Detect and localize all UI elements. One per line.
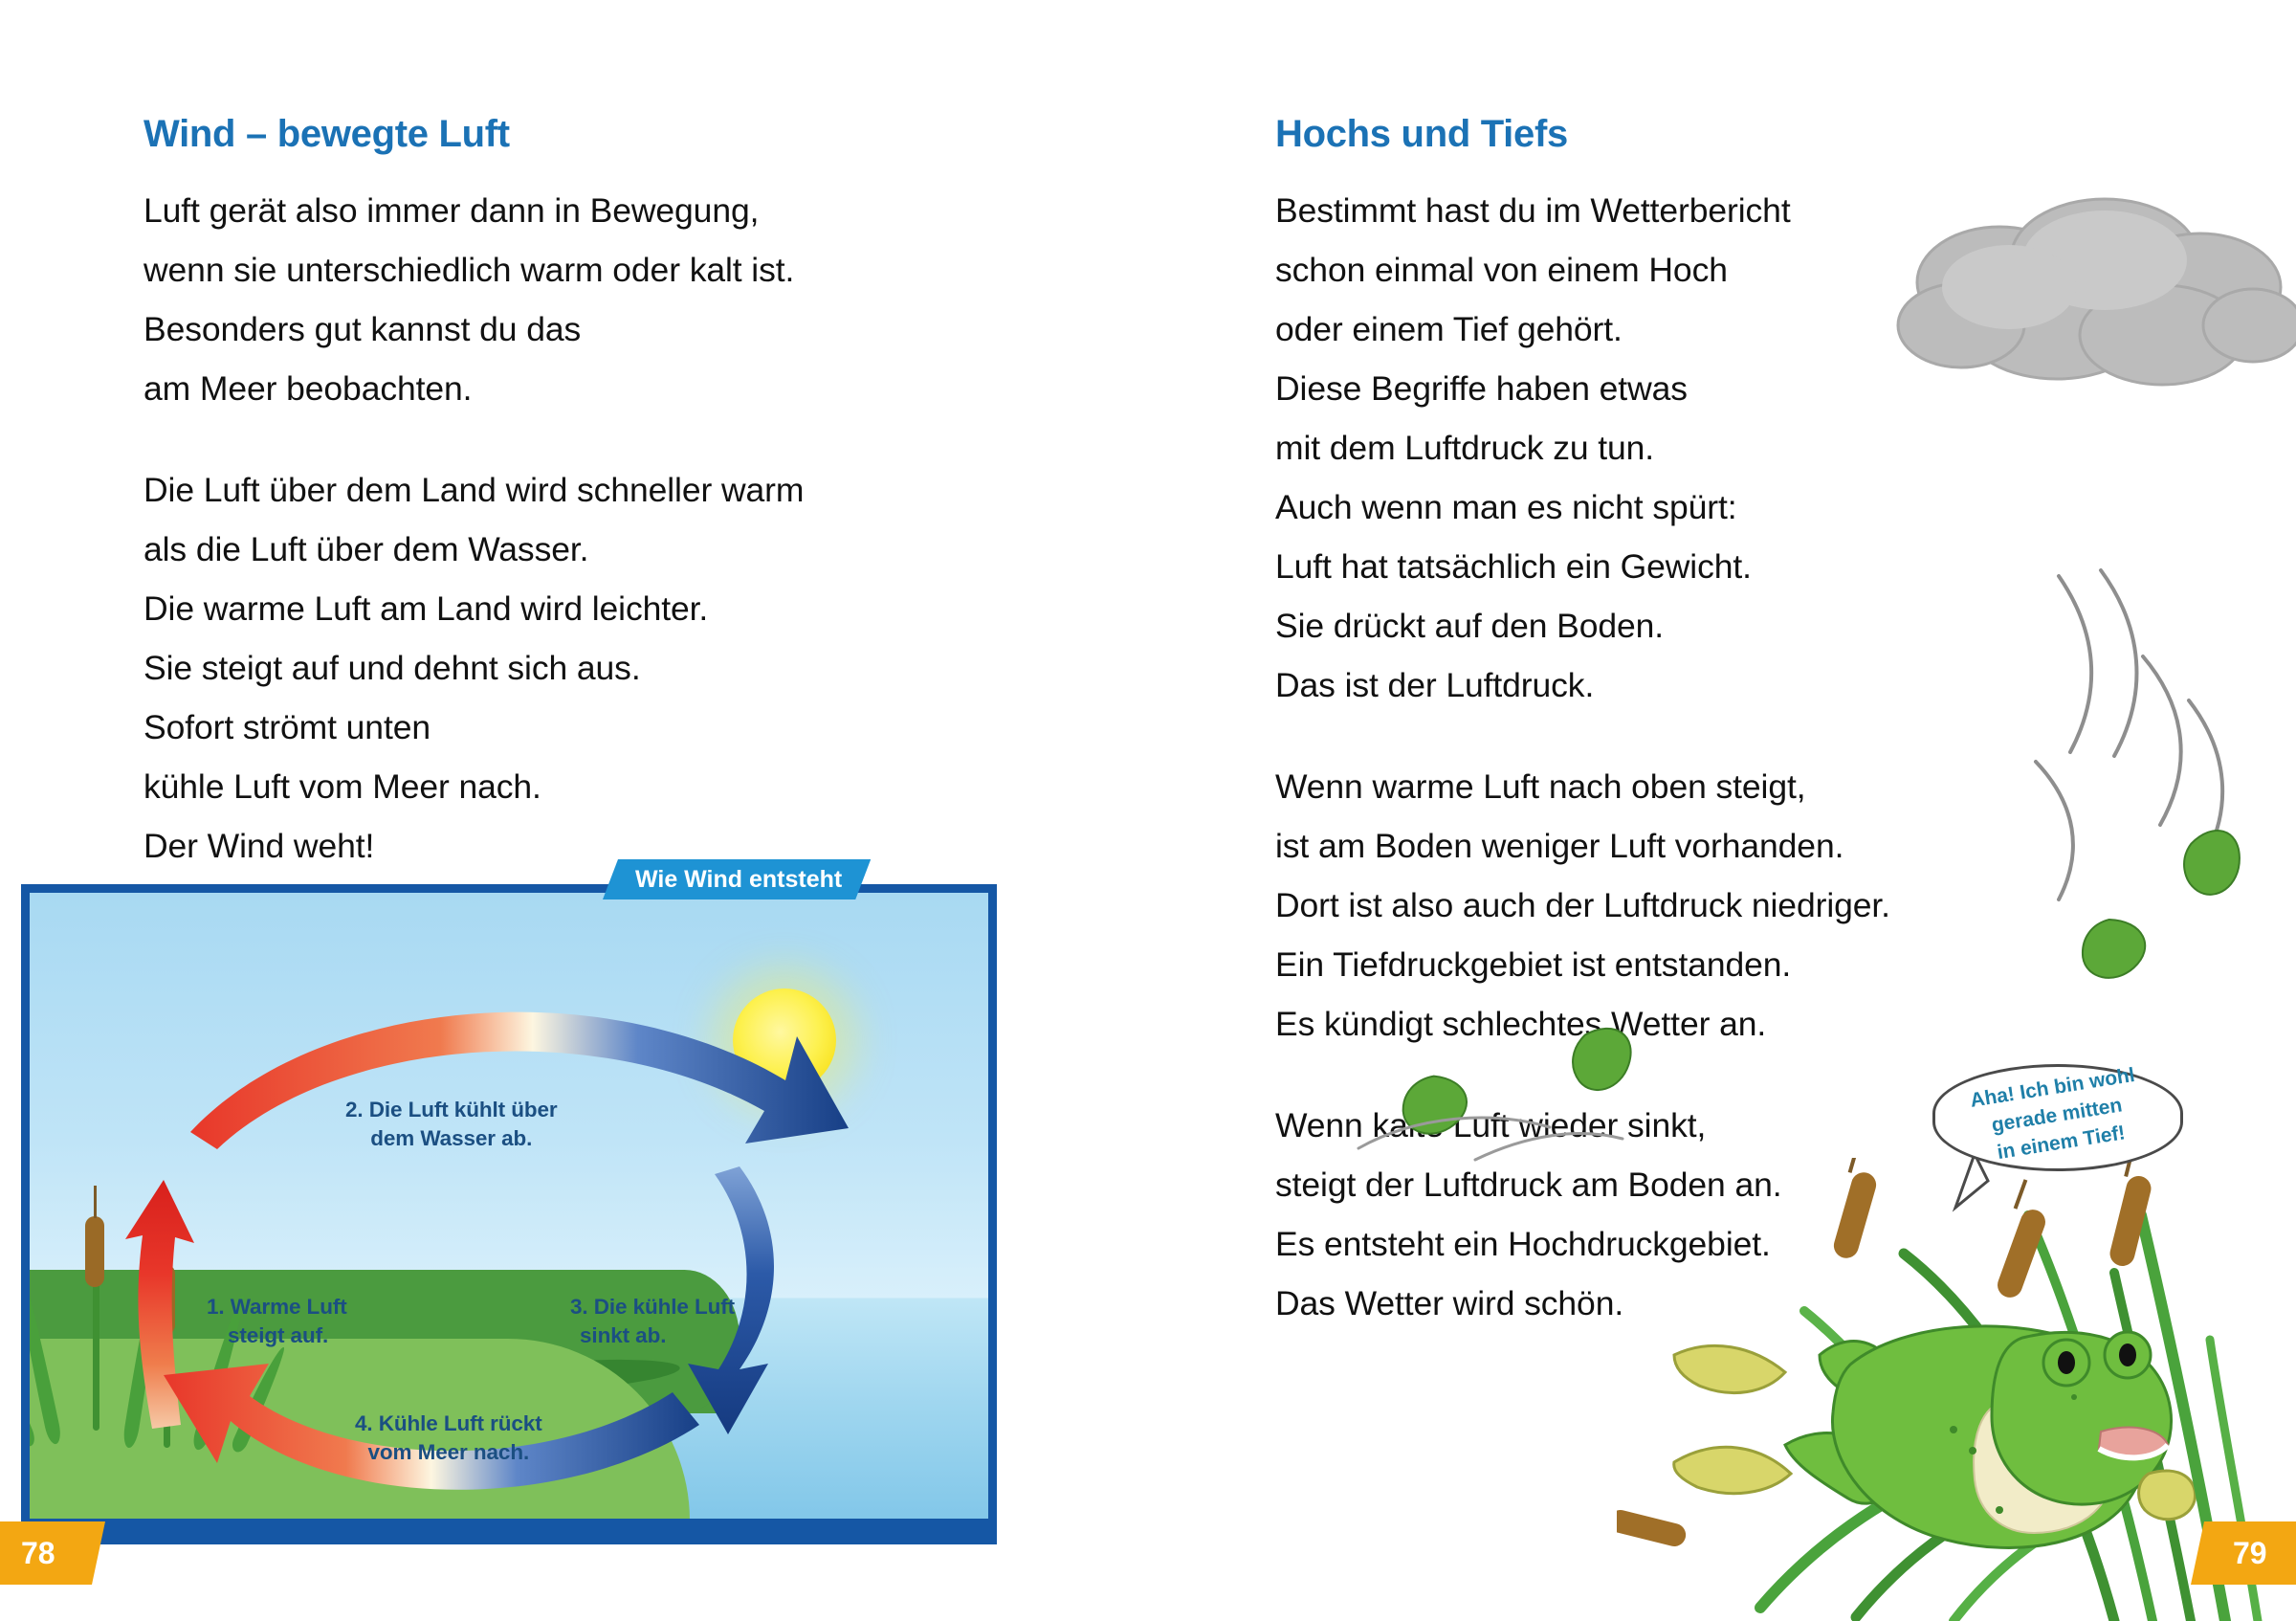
- page-number-left: 78: [0, 1521, 105, 1585]
- paragraph: Die Luft über dem Land wird schneller wa…: [143, 460, 775, 876]
- text-line: Die warme Luft am Land wird leichter.: [143, 579, 775, 638]
- diagram-label-2: 2. Die Luft kühlt über dem Wasser ab.: [345, 1096, 558, 1153]
- diagram-label-line: 3. Die kühle Luft: [570, 1295, 735, 1319]
- text-line: Auch wenn man es nicht spürt:: [1275, 477, 1945, 537]
- text-line: als die Luft über dem Wasser.: [143, 520, 775, 579]
- text-line: Luft hat tatsächlich ein Gewicht.: [1275, 537, 1945, 596]
- diagram-label-line: vom Meer nach.: [355, 1438, 542, 1467]
- text-line: Sofort strömt unten: [143, 698, 775, 757]
- page-title-left: Wind – bewegte Luft: [143, 113, 775, 156]
- diagram-label-line: sinkt ab.: [570, 1321, 735, 1350]
- diagram-label-line: 2. Die Luft kühlt über: [345, 1098, 558, 1121]
- frog-in-reeds-illustration: [1617, 1158, 2296, 1621]
- text-line: Luft gerät also immer dann in Bewegung,: [143, 181, 775, 240]
- paragraph: Luft gerät also immer dann in Bewegung, …: [143, 181, 775, 418]
- text-line: am Meer beobachten.: [143, 359, 775, 418]
- diagram-label-line: dem Wasser ab.: [345, 1124, 558, 1153]
- text-line: Wenn warme Luft nach oben steigt,: [1275, 757, 1945, 816]
- diagram-label-1: 1. Warme Luft steigt auf.: [207, 1293, 347, 1350]
- text-line: Die Luft über dem Land wird schneller wa…: [143, 460, 775, 520]
- page-title-right: Hochs und Tiefs: [1275, 113, 1945, 156]
- book-spread: Wind – bewegte Luft Luft gerät also imme…: [0, 0, 2296, 1621]
- page-number-right: 79: [2191, 1521, 2296, 1585]
- diagram-label-line: steigt auf.: [207, 1321, 347, 1350]
- diagram-tab-label: Wie Wind entsteht: [603, 859, 871, 899]
- text-line: wenn sie unterschiedlich warm oder kalt …: [143, 240, 775, 300]
- left-page-text-column: Wind – bewegte Luft Luft gerät also imme…: [143, 113, 775, 876]
- wind-formation-diagram: 1. Warme Luft steigt auf. 2. Die Luft kü…: [21, 884, 997, 1544]
- text-line: Besonders gut kannst du das: [143, 300, 775, 359]
- text-line: kühle Luft vom Meer nach.: [143, 757, 775, 816]
- frog-icon: [1674, 1326, 2196, 1548]
- text-line: Sie steigt auf und dehnt sich aus.: [143, 638, 775, 698]
- text-line: Sie drückt auf den Boden.: [1275, 596, 1945, 655]
- diagram-label-line: 1. Warme Luft: [207, 1295, 347, 1319]
- diagram-label-4: 4. Kühle Luft rückt vom Meer nach.: [355, 1410, 542, 1467]
- diagram-label-3: 3. Die kühle Luft sinkt ab.: [570, 1293, 735, 1350]
- text-line: Das ist der Luftdruck.: [1275, 655, 1945, 715]
- diagram-label-line: 4. Kühle Luft rückt: [355, 1411, 542, 1435]
- cloud-icon: [1818, 191, 2296, 440]
